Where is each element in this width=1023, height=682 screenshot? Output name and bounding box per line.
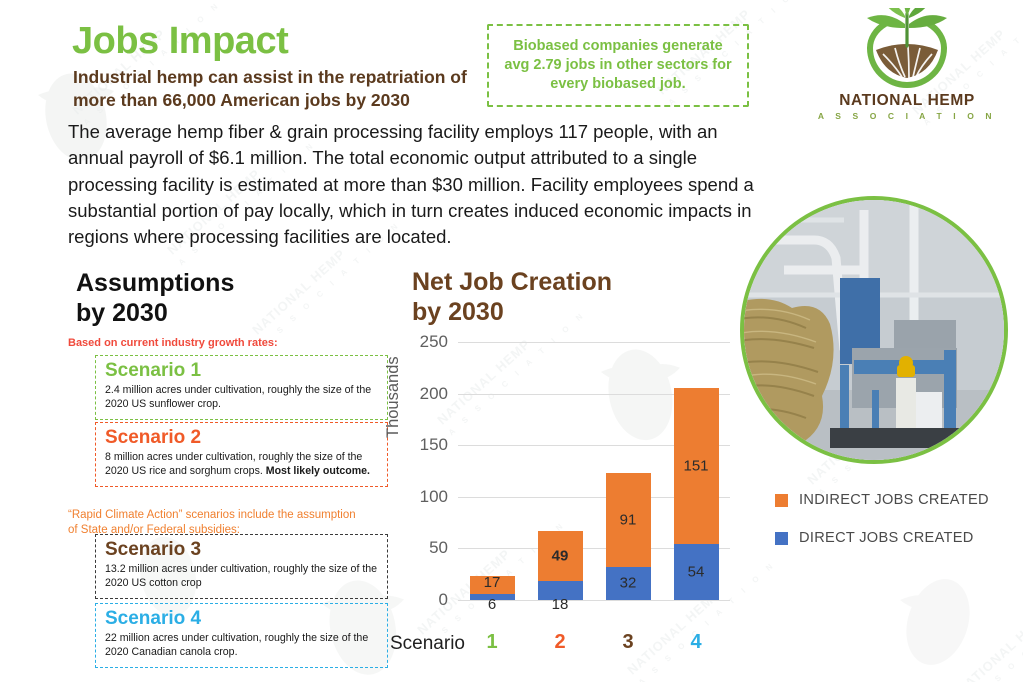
scenario-2-body: 8 million acres under cultivation, rough… [105,451,378,479]
chart-title-line1: Net Job Creation [412,268,612,298]
legend-item-direct[interactable]: DIRECT JOBS CREATED [775,530,989,546]
scenario-4-body-text: 22 million acres under cultivation, roug… [105,632,368,658]
growth-rates-note: Based on current industry growth rates: [68,336,378,350]
net-job-creation-chart: Thousands 250200150100500 17649189132151… [390,342,730,642]
bar-segment-direct[interactable]: 54 [674,544,719,600]
chart-title: Net Job Creation by 2030 [412,268,612,327]
chart-title-line2: by 2030 [412,298,612,328]
intro-paragraph: The average hemp fiber & grain processin… [68,119,774,250]
leaf-watermark [880,560,1000,675]
logo-association: A S S O C I A T I O N [812,111,1002,121]
logo-name: NATIONAL HEMP [812,92,1002,110]
bar-value-label-direct: 54 [674,564,719,581]
bar-value-label-direct: 6 [470,596,515,613]
legend-label-indirect: INDIRECT JOBS CREATED [799,492,989,508]
scenario-2-heading: Scenario 2 [105,427,378,450]
bar-group[interactable]: 4918 [538,531,583,600]
assumptions-title: Assumptions by 2030 [76,269,234,328]
y-tick-label: 150 [400,435,448,455]
bar-value-label-indirect: 17 [470,574,515,591]
y-tick-label: 0 [400,590,448,610]
y-tick-label: 250 [400,332,448,352]
bar-value-label-direct: 18 [538,596,583,613]
bar-segment-indirect[interactable]: 17 [470,576,515,594]
chart-legend: INDIRECT JOBS CREATED DIRECT JOBS CREATE… [775,492,989,568]
facility-photo-illustration [744,200,1004,460]
scenario-box-2: Scenario 2 8 million acres under cultiva… [95,422,388,487]
infographic-page: NATIONAL HEMP A S S O C I A T I O N NATI… [0,0,1023,682]
page-subtitle: Industrial hemp can assist in the repatr… [73,66,493,113]
bar-group[interactable]: 176 [470,576,515,600]
scenario-1-heading: Scenario 1 [105,360,378,383]
bar-value-label-indirect: 49 [538,548,583,565]
y-tick-label: 50 [400,538,448,558]
assumptions-title-line2: by 2030 [76,299,234,329]
hemp-sprout-icon [812,8,1002,92]
watermark-line1: NATIONAL HEMP [954,606,1023,682]
legend-swatch-direct [775,532,788,545]
bar-segment-indirect[interactable]: 91 [606,473,651,567]
bar-segment-indirect[interactable]: 49 [538,531,583,582]
bar-value-label-direct: 32 [606,575,651,592]
bar-segment-indirect[interactable]: 151 [674,388,719,544]
chart-x-axis-label: Scenario [390,633,465,655]
watermark-line2: A S S O C I A T I O N [966,578,1023,682]
biobased-callout-box: Biobased companies generate avg 2.79 job… [487,24,749,107]
legend-swatch-indirect [775,494,788,507]
x-tick-label-scenario-2: 2 [538,631,583,654]
x-tick-label-scenario-3: 3 [606,631,651,654]
bar-segment-direct[interactable]: 6 [470,594,515,600]
scenario-3-body: 13.2 million acres under cultivation, ro… [105,563,378,591]
scenario-4-heading: Scenario 4 [105,608,378,631]
legend-item-indirect[interactable]: INDIRECT JOBS CREATED [775,492,989,508]
scenario-3-heading: Scenario 3 [105,539,378,562]
scenario-box-1: Scenario 1 2.4 million acres under culti… [95,355,388,420]
text-watermark: NATIONAL HEMP A S S O C I A T I O N [953,563,1023,682]
bar-group[interactable]: 15154 [674,388,719,600]
bar-segment-direct[interactable]: 18 [538,581,583,600]
y-tick-label: 200 [400,384,448,404]
watermark-line1: NATIONAL HEMP [249,246,348,338]
page-title: Jobs Impact [72,20,288,63]
scenario-box-3: Scenario 3 13.2 million acres under cult… [95,534,388,599]
bar-value-label-indirect: 91 [606,512,651,529]
scenario-1-body: 2.4 million acres under cultivation, rou… [105,384,378,412]
assumptions-title-line1: Assumptions [76,269,234,299]
x-tick-label-scenario-4: 4 [674,631,719,654]
bar-segment-direct[interactable]: 32 [606,567,651,600]
bar-value-label-indirect: 151 [674,458,719,475]
scenario-2-body-emphasis: Most likely outcome. [266,465,370,477]
national-hemp-association-logo: NATIONAL HEMP A S S O C I A T I O N [812,8,1002,126]
bar-group[interactable]: 9132 [606,473,651,600]
scenario-4-body: 22 million acres under cultivation, roug… [105,632,378,660]
scenario-box-4: Scenario 4 22 million acres under cultiv… [95,603,388,668]
chart-plot-area: 1764918913215154 [458,342,730,600]
y-tick-label: 100 [400,487,448,507]
biobased-callout-text: Biobased companies generate avg 2.79 job… [499,37,737,94]
scenario-1-body-text: 2.4 million acres under cultivation, rou… [105,384,371,410]
x-tick-label-scenario-1: 1 [470,631,515,654]
legend-label-direct: DIRECT JOBS CREATED [799,530,974,546]
scenario-3-body-text: 13.2 million acres under cultivation, ro… [105,563,377,589]
processing-facility-photo [740,196,1008,464]
